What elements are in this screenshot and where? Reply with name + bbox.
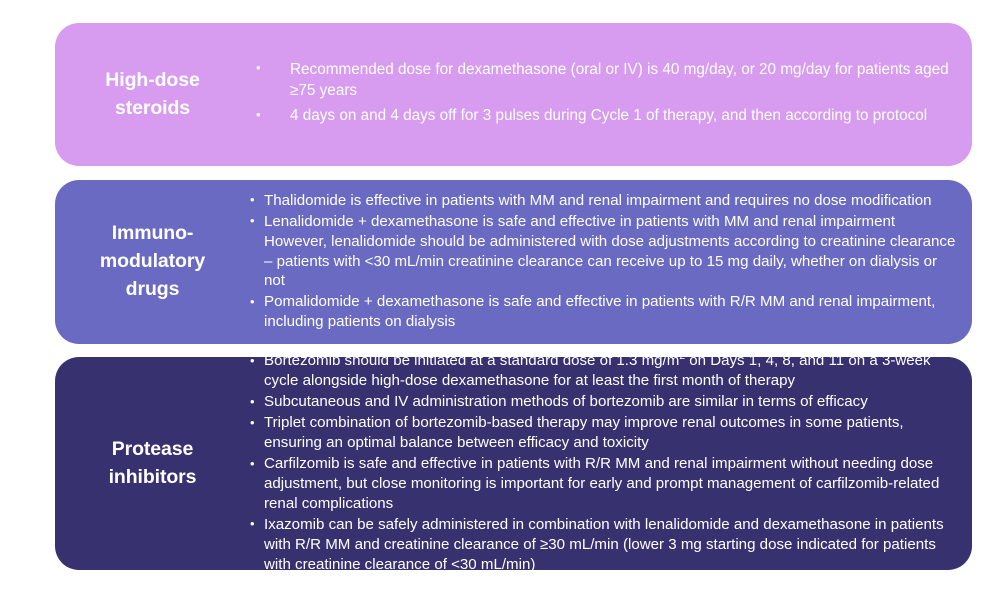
panel-label-high-dose-steroids: High-dose steroids — [55, 67, 250, 122]
panel-label-line: inhibitors — [61, 464, 244, 492]
bullet-list: Bortezomib should be initiated at a stan… — [250, 357, 956, 570]
bullet-list: Thalidomide is effective in patients wit… — [250, 191, 956, 332]
bullet-item: Bortezomib should be initiated at a stan… — [250, 357, 956, 391]
bullet-item: Recommended dose for dexamethasone (oral… — [254, 59, 956, 101]
panel-label-line: High-dose — [61, 67, 244, 95]
panel-body-protease-inhibitors: Bortezomib should be initiated at a stan… — [250, 357, 972, 570]
panel-high-dose-steroids: High-dose steroids Recommended dose for … — [55, 23, 972, 166]
diagram-board: High-dose steroids Recommended dose for … — [0, 0, 1000, 591]
panel-label-line: steroids — [61, 95, 244, 123]
panel-body-immunomodulatory-drugs: Thalidomide is effective in patients wit… — [250, 191, 972, 333]
bullet-item: Triplet combination of bortezomib-based … — [250, 413, 956, 453]
panel-label-line: drugs — [61, 276, 244, 304]
panel-label-immunomodulatory-drugs: Immuno- modulatory drugs — [55, 220, 250, 303]
bullet-item: Thalidomide is effective in patients wit… — [250, 191, 956, 211]
panel-body-high-dose-steroids: Recommended dose for dexamethasone (oral… — [250, 59, 972, 130]
bullet-item: Lenalidomide + dexamethasone is safe and… — [250, 212, 956, 292]
panel-label-line: Immuno- — [61, 220, 244, 248]
panel-immunomodulatory-drugs: Immuno- modulatory drugs Thalidomide is … — [55, 180, 972, 344]
bullet-item: Carfilzomib is safe and effective in pat… — [250, 454, 956, 514]
bullet-item: Ixazomib can be safely administered in c… — [250, 515, 956, 570]
bullet-text-pre: Bortezomib should be initiated at a stan… — [264, 357, 679, 369]
panel-label-line: Protease — [61, 436, 244, 464]
bullet-item: 4 days on and 4 days off for 3 pulses du… — [254, 105, 956, 126]
bullet-list: Recommended dose for dexamethasone (oral… — [254, 59, 956, 126]
panel-label-protease-inhibitors: Protease inhibitors — [55, 436, 250, 491]
bullet-item: Pomalidomide + dexamethasone is safe and… — [250, 292, 956, 332]
bullet-item: Subcutaneous and IV administration metho… — [250, 392, 956, 412]
panel-label-line: modulatory — [61, 248, 244, 276]
panel-protease-inhibitors: Protease inhibitors Bortezomib should be… — [55, 357, 972, 570]
